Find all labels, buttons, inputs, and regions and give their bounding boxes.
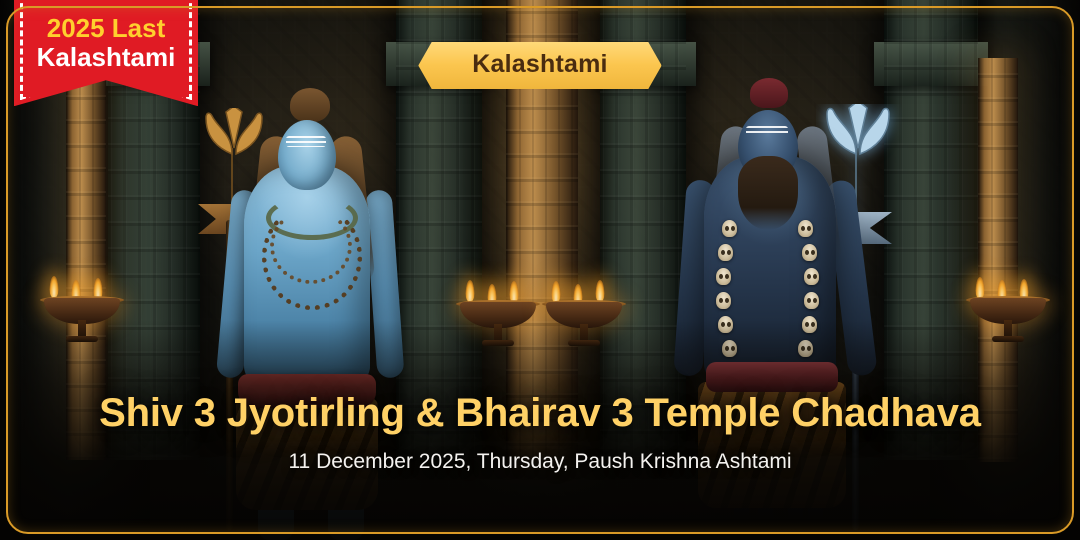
rudraksha-mala-inner <box>270 208 352 284</box>
kalashtami-promo-banner: Kalashtami 2025 Last Kalashtami Shiv 3 J… <box>0 0 1080 540</box>
bhairav-turban <box>750 78 788 108</box>
shiva-head <box>278 120 336 190</box>
bhairav-beard <box>738 156 798 230</box>
tripundra-tilak-icon-bhairav <box>746 126 788 136</box>
page-title: Shiv 3 Jyotirling & Bhairav 3 Temple Cha… <box>0 391 1080 435</box>
headline-block: Shiv 3 Jyotirling & Bhairav 3 Temple Cha… <box>0 391 1080 474</box>
event-date-subtitle: 11 December 2025, Thursday, Paush Krishn… <box>0 449 1080 474</box>
shiva-jata-bun <box>290 88 330 122</box>
tripundra-tilak-icon <box>286 136 326 147</box>
ribbon-line-1: 2025 Last <box>24 14 188 43</box>
kalashtami-badge: Kalashtami <box>418 42 661 89</box>
ribbon-line-2: Kalashtami <box>24 43 188 72</box>
